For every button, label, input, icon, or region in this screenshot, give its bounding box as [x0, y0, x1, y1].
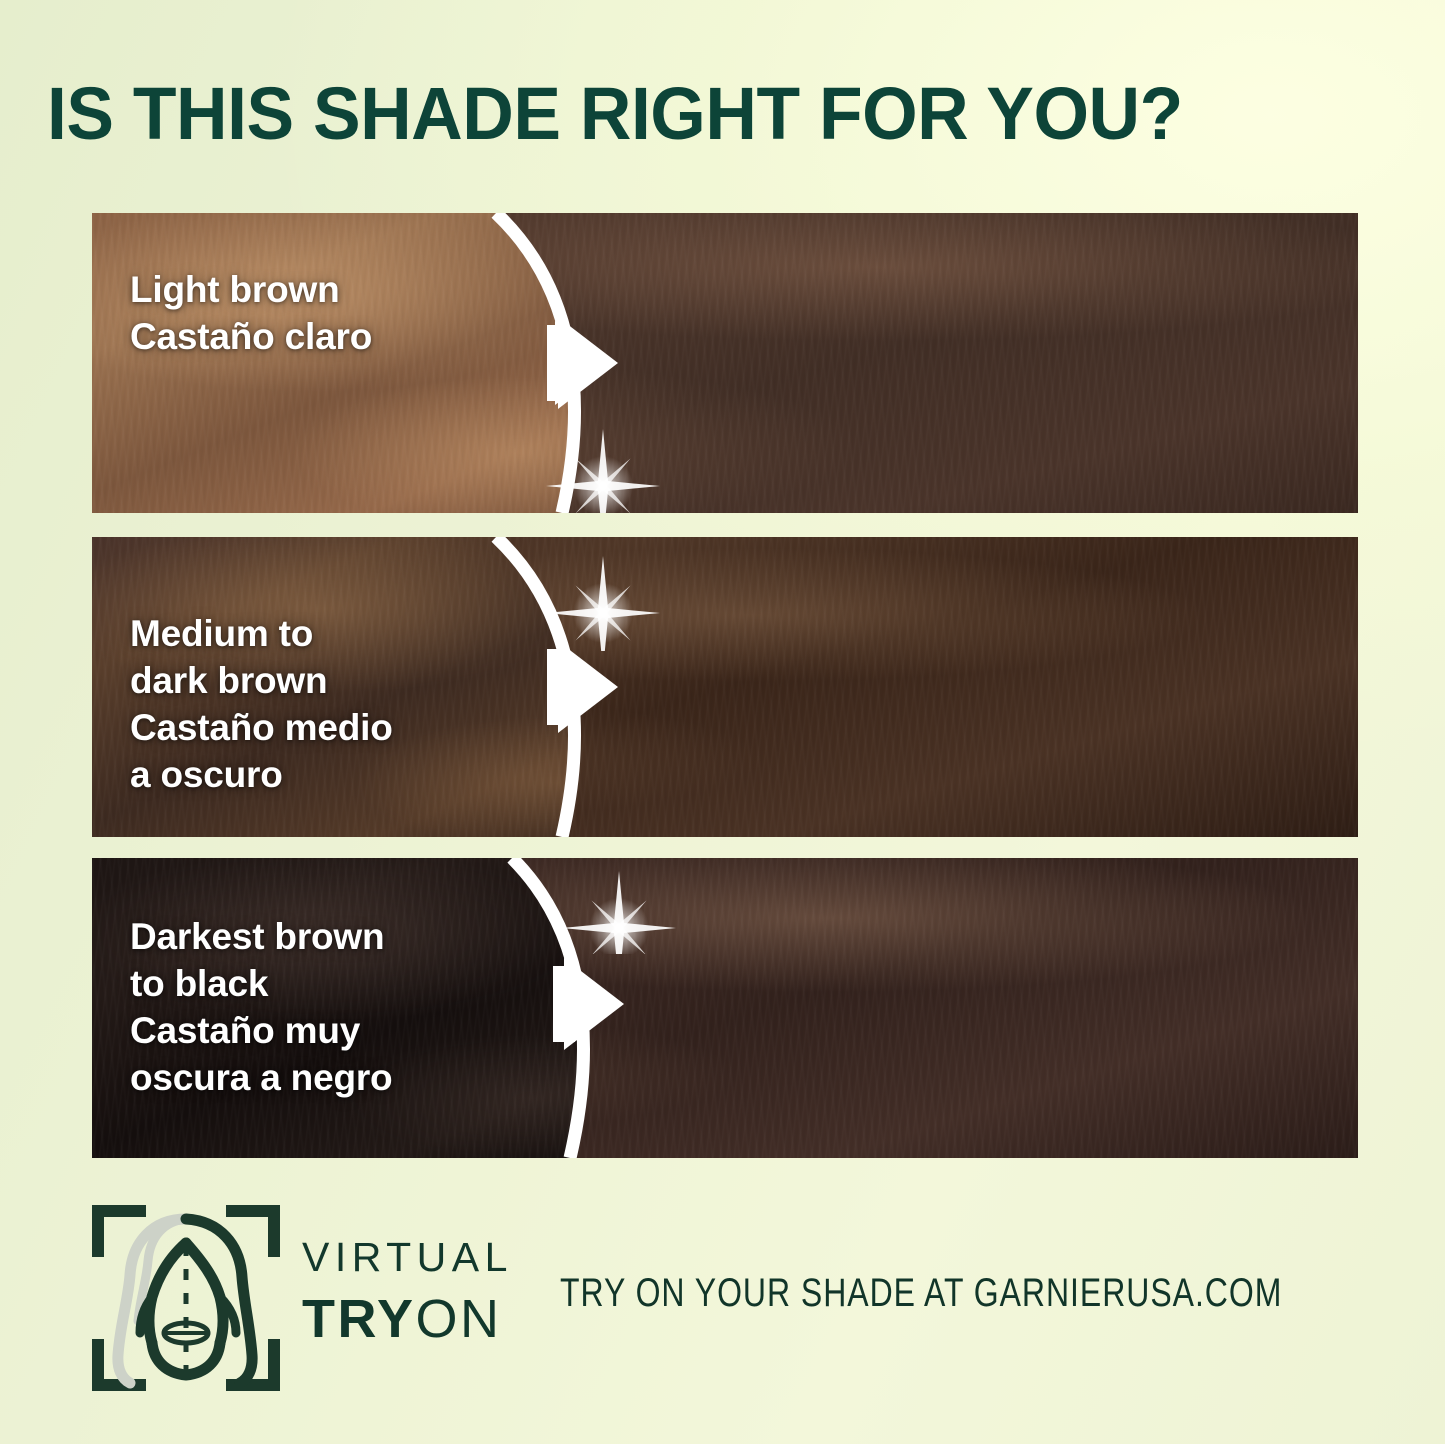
shade-panel-light-brown[interactable]: Light brown Castaño claro	[92, 213, 1358, 513]
tryon-label: TRYON	[302, 1292, 513, 1346]
shade-label-light-brown: Light brown Castaño claro	[130, 266, 372, 360]
shade-panel-medium-dark-brown[interactable]: Medium to dark brown Castaño medio a osc…	[92, 537, 1358, 837]
marketing-panel-stage: IS THIS SHADE RIGHT FOR YOU?	[0, 0, 1445, 1444]
virtual-try-on-face-scan-icon	[90, 1203, 282, 1393]
virtual-label: VIRTUAL	[302, 1237, 513, 1278]
shade-panel-darkest-brown-black[interactable]: Darkest brown to black Castaño muy oscur…	[92, 858, 1358, 1158]
try-label: TRY	[302, 1289, 416, 1349]
shade-label-medium-dark-brown: Medium to dark brown Castaño medio a osc…	[130, 610, 393, 798]
page-title: IS THIS SHADE RIGHT FOR YOU?	[47, 72, 1359, 156]
on-label: ON	[416, 1289, 502, 1349]
virtual-try-on-logo[interactable]: VIRTUAL TRYON	[90, 1203, 520, 1393]
shade-label-darkest-brown-black: Darkest brown to black Castaño muy oscur…	[130, 913, 392, 1101]
tagline-try-on-url[interactable]: TRY ON YOUR SHADE AT GARNIERUSA.COM	[560, 1271, 1282, 1316]
virtual-try-on-wordmark: VIRTUAL TRYON	[302, 1237, 513, 1346]
